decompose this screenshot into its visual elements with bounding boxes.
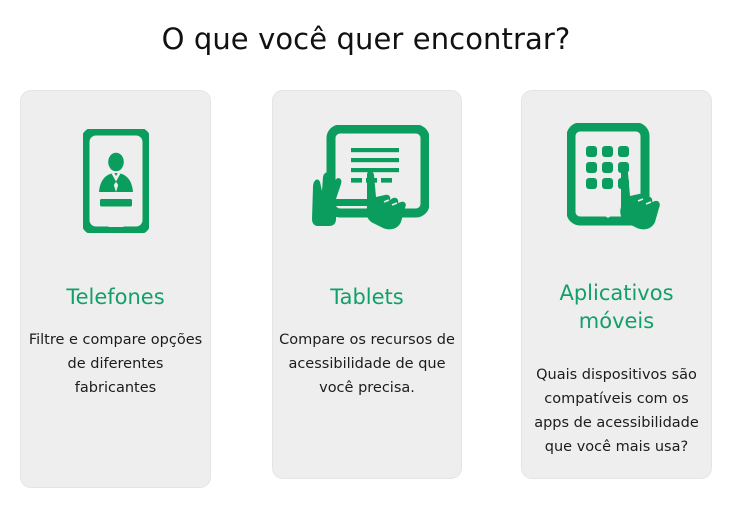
card-telefones[interactable]: Telefones Filtre e compare opções de dif… — [20, 90, 211, 488]
card-icon-wrap — [273, 113, 461, 233]
smartphone-person-icon — [83, 129, 149, 233]
tablet-apps-grid-hand-icon — [567, 123, 667, 233]
page-title: O que você quer encontrar? — [0, 22, 732, 56]
card-heading-aplicativos-moveis: Aplicativos móveis — [528, 279, 705, 335]
card-aplicativos-moveis[interactable]: Aplicativos móveis Quais dispositivos sã… — [521, 90, 712, 479]
card-body-tablets: Compare os recursos de acessibilidade de… — [278, 328, 456, 400]
page-root: O que você quer encontrar? — [0, 0, 732, 527]
tablet-hand-touch-icon — [305, 125, 429, 233]
card-body-telefones: Filtre e compare opções de diferentes fa… — [26, 328, 205, 400]
card-grid: Telefones Filtre e compare opções de dif… — [0, 90, 732, 500]
card-tablets[interactable]: Tablets Compare os recursos de acessibil… — [272, 90, 462, 479]
card-body-aplicativos-moveis: Quais dispositivos são compatíveis com o… — [527, 363, 706, 459]
card-icon-wrap — [21, 113, 210, 233]
card-heading-telefones: Telefones — [27, 283, 204, 311]
card-heading-tablets: Tablets — [279, 283, 455, 311]
card-icon-wrap — [522, 113, 711, 233]
